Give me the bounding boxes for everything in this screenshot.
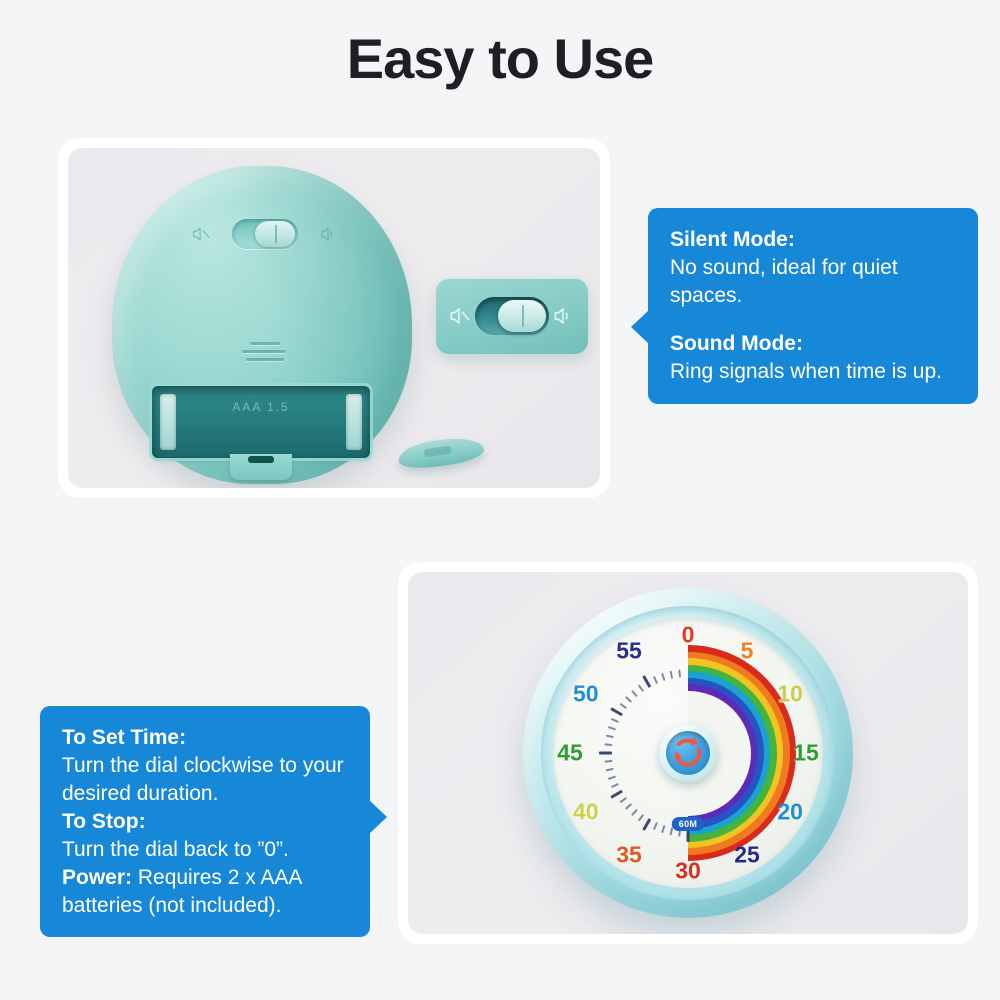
timer-center-knob[interactable] bbox=[659, 724, 717, 782]
photo-inner-dial-view: 0510152025303540455055 60M bbox=[408, 572, 968, 934]
photo-card-rear-view: AAA 1.5 bbox=[58, 138, 610, 498]
callout-body-sound-mode: Ring signals when time is up. bbox=[670, 358, 956, 386]
callout-body-silent-mode: No sound, ideal for quiet spaces. bbox=[670, 254, 956, 310]
rotate-arrows-icon bbox=[666, 731, 710, 775]
speaker-icon bbox=[551, 303, 577, 329]
tick-mark bbox=[610, 707, 623, 716]
battery-contact-left bbox=[160, 394, 176, 450]
tick-mark bbox=[670, 671, 674, 679]
callout-heading-silent-mode: Silent Mode: bbox=[670, 226, 956, 254]
callout-tail-right bbox=[369, 800, 387, 834]
dial-number-40: 40 bbox=[573, 799, 599, 826]
dial-number-0: 0 bbox=[682, 622, 695, 649]
dial-number-50: 50 bbox=[573, 681, 599, 708]
vent-line bbox=[246, 358, 284, 361]
battery-contact-right bbox=[346, 394, 362, 450]
battery-door-detached bbox=[397, 434, 486, 472]
callout-usage-instructions: To Set Time: Turn the dial clockwise to … bbox=[40, 706, 370, 937]
tick-mark bbox=[619, 797, 627, 803]
dial-number-35: 35 bbox=[616, 842, 642, 869]
knob-inner[interactable] bbox=[666, 731, 710, 775]
dial-number-10: 10 bbox=[777, 681, 803, 708]
tick-mark bbox=[611, 718, 619, 723]
tick-mark bbox=[604, 743, 612, 746]
tick-mark bbox=[608, 776, 616, 780]
tick-mark bbox=[661, 825, 665, 833]
photo-card-dial-view: 0510152025303540455055 60M bbox=[398, 562, 978, 944]
photo-inner-rear-view: AAA 1.5 bbox=[68, 148, 600, 488]
switch-closeup-inset[interactable] bbox=[436, 278, 588, 354]
dial-number-45: 45 bbox=[557, 740, 583, 767]
tick-mark bbox=[642, 675, 651, 688]
tick-mark bbox=[611, 783, 619, 788]
dial-number-55: 55 bbox=[616, 637, 642, 664]
callout-heading-set-time: To Set Time: bbox=[62, 724, 348, 752]
mute-icon bbox=[447, 303, 473, 329]
tick-mark bbox=[638, 814, 644, 822]
callout-body-stop: Turn the dial back to ”0”. bbox=[62, 836, 348, 864]
tick-mark bbox=[604, 760, 612, 763]
vent-line bbox=[242, 350, 286, 353]
timer-rear-body: AAA 1.5 bbox=[112, 166, 412, 484]
tick-mark bbox=[608, 726, 616, 730]
visual-timer[interactable]: 0510152025303540455055 60M bbox=[523, 588, 853, 918]
dial-number-30: 30 bbox=[675, 858, 701, 885]
timer-dial-face[interactable]: 0510152025303540455055 60M bbox=[553, 618, 823, 888]
tick-mark bbox=[631, 690, 638, 697]
dial-number-25: 25 bbox=[734, 842, 760, 869]
vent-line bbox=[250, 342, 280, 345]
speaker-icon bbox=[318, 223, 340, 245]
vent-lines bbox=[242, 342, 288, 366]
tick-mark bbox=[606, 735, 614, 739]
tick-mark bbox=[653, 676, 658, 684]
callout-spacer bbox=[670, 310, 956, 330]
callout-tail-left bbox=[631, 310, 649, 344]
inset-switch-knob[interactable] bbox=[498, 300, 546, 332]
mute-icon bbox=[190, 223, 212, 245]
callout-sound-modes: Silent Mode: No sound, ideal for quiet s… bbox=[648, 208, 978, 404]
switch-knob[interactable] bbox=[255, 221, 295, 247]
callout-power-line: Power: Requires 2 x AAA batteries (not i… bbox=[62, 864, 348, 920]
inset-switch-track[interactable] bbox=[475, 297, 549, 335]
tick-mark bbox=[599, 752, 612, 755]
battery-label: AAA 1.5 bbox=[232, 400, 289, 414]
tick-mark bbox=[642, 818, 651, 831]
tick-mark bbox=[606, 768, 614, 772]
dial-number-15: 15 bbox=[793, 740, 819, 767]
callout-body-set-time: Turn the dial clockwise to your desired … bbox=[62, 752, 348, 808]
tick-mark bbox=[625, 803, 632, 810]
tick-mark bbox=[678, 669, 681, 677]
dial-number-20: 20 bbox=[777, 799, 803, 826]
battery-compartment: AAA 1.5 bbox=[152, 386, 370, 458]
tick-mark bbox=[661, 673, 665, 681]
max-minutes-badge: 60M bbox=[672, 817, 704, 831]
page-title: Easy to Use bbox=[0, 26, 1000, 91]
body-sound-switch[interactable] bbox=[190, 218, 340, 250]
dial-number-5: 5 bbox=[741, 637, 754, 664]
callout-heading-sound-mode: Sound Mode: bbox=[670, 330, 956, 358]
tick-mark bbox=[638, 684, 644, 692]
switch-track[interactable] bbox=[232, 219, 298, 249]
tick-mark bbox=[619, 703, 627, 709]
tick-mark bbox=[610, 790, 623, 799]
tick-mark bbox=[625, 696, 632, 703]
callout-heading-stop: To Stop: bbox=[62, 808, 348, 836]
tick-mark bbox=[653, 822, 658, 830]
tick-mark bbox=[631, 809, 638, 816]
battery-door-latch[interactable] bbox=[230, 454, 292, 480]
